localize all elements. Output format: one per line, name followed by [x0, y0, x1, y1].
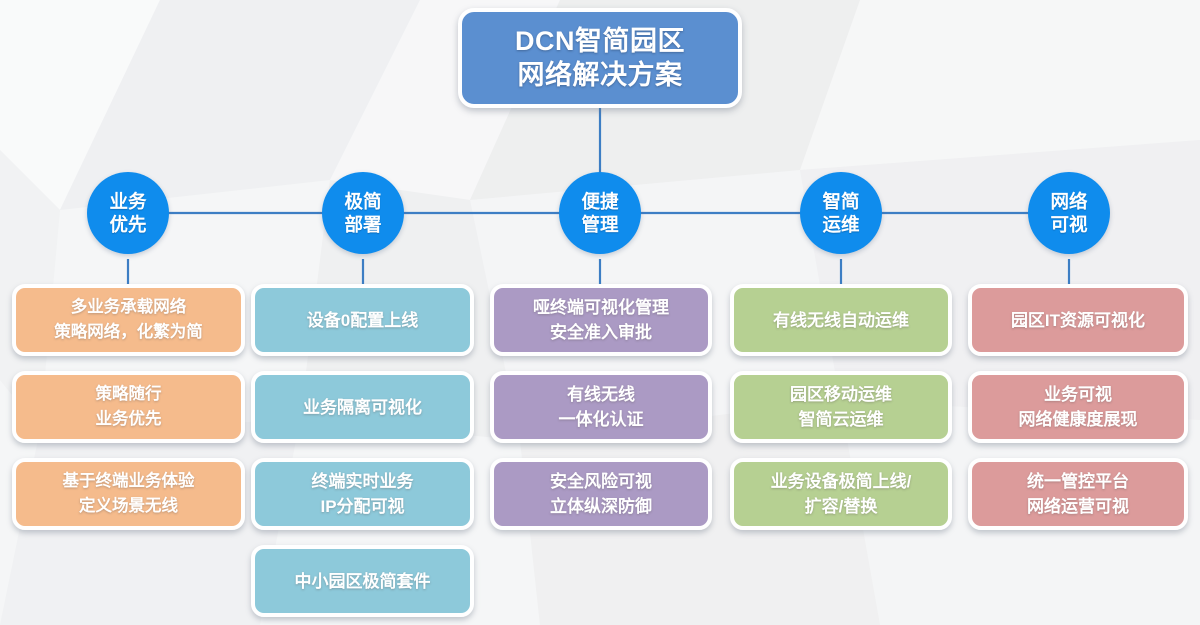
node-label-col-5-line-2: 可视: [1050, 213, 1087, 236]
card-col-1-item-3-line-2: 定义场景无线: [79, 494, 178, 519]
node-label-col-1-line-2: 优先: [109, 213, 146, 236]
card-col-2-item-4[interactable]: 中小园区极简套件: [251, 545, 474, 617]
card-col-4-item-2-line-2: 智简云运维: [799, 407, 884, 432]
card-col-3-item-1-line-2: 安全准入审批: [550, 320, 652, 345]
node-circle-col-1[interactable]: 业务 优先: [87, 172, 169, 254]
card-col-1-item-2-line-2: 业务优先: [96, 407, 162, 432]
card-col-1-item-2[interactable]: 策略随行 业务优先: [12, 371, 245, 443]
node-label-col-3-line-2: 管理: [581, 213, 618, 236]
node-circle-col-2[interactable]: 极简 部署: [322, 172, 404, 254]
card-col-1-item-3[interactable]: 基于终端业务体验 定义场景无线: [12, 458, 245, 530]
card-col-3-item-1-line-1: 哑终端可视化管理: [533, 295, 669, 320]
card-col-2-item-1-line-1: 设备0配置上线: [307, 308, 418, 333]
diagram-canvas: DCN智简园区 网络解决方案 业务 优先 多业务承载网络 策略网络，化繁为简 策…: [0, 0, 1200, 625]
node-circle-col-4[interactable]: 智简 运维: [800, 172, 882, 254]
card-col-4-item-2-line-1: 园区移动运维: [790, 382, 892, 407]
card-col-5-item-3-line-1: 统一管控平台: [1027, 469, 1129, 494]
node-circle-col-3[interactable]: 便捷 管理: [559, 172, 641, 254]
card-col-2-item-1[interactable]: 设备0配置上线: [251, 284, 474, 356]
card-col-2-item-3[interactable]: 终端实时业务 IP分配可视: [251, 458, 474, 530]
card-col-5-item-1[interactable]: 园区IT资源可视化: [968, 284, 1188, 356]
card-col-3-item-1[interactable]: 哑终端可视化管理 安全准入审批: [490, 284, 712, 356]
node-label-col-3-line-1: 便捷: [581, 190, 618, 213]
card-col-1-item-2-line-1: 策略随行: [96, 382, 162, 407]
node-label-col-5-line-1: 网络: [1050, 190, 1087, 213]
card-col-3-item-2-line-2: 一体化认证: [559, 407, 644, 432]
solution-title-box: DCN智简园区 网络解决方案: [458, 8, 742, 108]
card-col-5-item-1-line-1: 园区IT资源可视化: [1011, 308, 1145, 333]
card-col-4-item-1[interactable]: 有线无线自动运维: [730, 284, 952, 356]
card-col-2-item-3-line-1: 终端实时业务: [312, 469, 414, 494]
card-col-5-item-3-line-2: 网络运营可视: [1027, 494, 1129, 519]
card-col-4-item-2[interactable]: 园区移动运维 智简云运维: [730, 371, 952, 443]
card-col-1-item-1-line-1: 多业务承载网络: [71, 295, 187, 320]
title-line-2: 网络解决方案: [518, 58, 683, 92]
node-label-col-4-line-1: 智简: [822, 190, 859, 213]
node-label-col-2-line-2: 部署: [344, 213, 381, 236]
card-col-4-item-3[interactable]: 业务设备极简上线/ 扩容/替换: [730, 458, 952, 530]
card-col-3-item-3-line-1: 安全风险可视: [550, 469, 652, 494]
card-col-1-item-1-line-2: 策略网络，化繁为简: [54, 320, 203, 345]
card-col-5-item-2[interactable]: 业务可视 网络健康度展现: [968, 371, 1188, 443]
node-label-col-2-line-1: 极简: [344, 190, 381, 213]
node-label-col-1-line-1: 业务: [109, 190, 146, 213]
card-col-4-item-1-line-1: 有线无线自动运维: [773, 308, 909, 333]
card-col-3-item-2-line-1: 有线无线: [567, 382, 635, 407]
card-col-5-item-2-line-2: 网络健康度展现: [1019, 407, 1138, 432]
card-col-5-item-2-line-1: 业务可视: [1044, 382, 1112, 407]
card-col-3-item-3-line-2: 立体纵深防御: [550, 494, 652, 519]
card-col-3-item-3[interactable]: 安全风险可视 立体纵深防御: [490, 458, 712, 530]
card-col-5-item-3[interactable]: 统一管控平台 网络运营可视: [968, 458, 1188, 530]
title-line-1: DCN智简园区: [515, 24, 685, 58]
card-col-3-item-2[interactable]: 有线无线 一体化认证: [490, 371, 712, 443]
card-col-4-item-3-line-1: 业务设备极简上线/: [771, 469, 912, 494]
card-col-2-item-3-line-2: IP分配可视: [320, 494, 404, 519]
node-circle-col-5[interactable]: 网络 可视: [1028, 172, 1110, 254]
card-col-2-item-4-line-1: 中小园区极简套件: [295, 569, 431, 594]
card-col-2-item-2-line-1: 业务隔离可视化: [303, 395, 422, 420]
node-label-col-4-line-2: 运维: [822, 213, 859, 236]
card-col-4-item-3-line-2: 扩容/替换: [805, 494, 878, 519]
card-col-1-item-1[interactable]: 多业务承载网络 策略网络，化繁为简: [12, 284, 245, 356]
card-col-1-item-3-line-1: 基于终端业务体验: [63, 469, 195, 494]
card-col-2-item-2[interactable]: 业务隔离可视化: [251, 371, 474, 443]
